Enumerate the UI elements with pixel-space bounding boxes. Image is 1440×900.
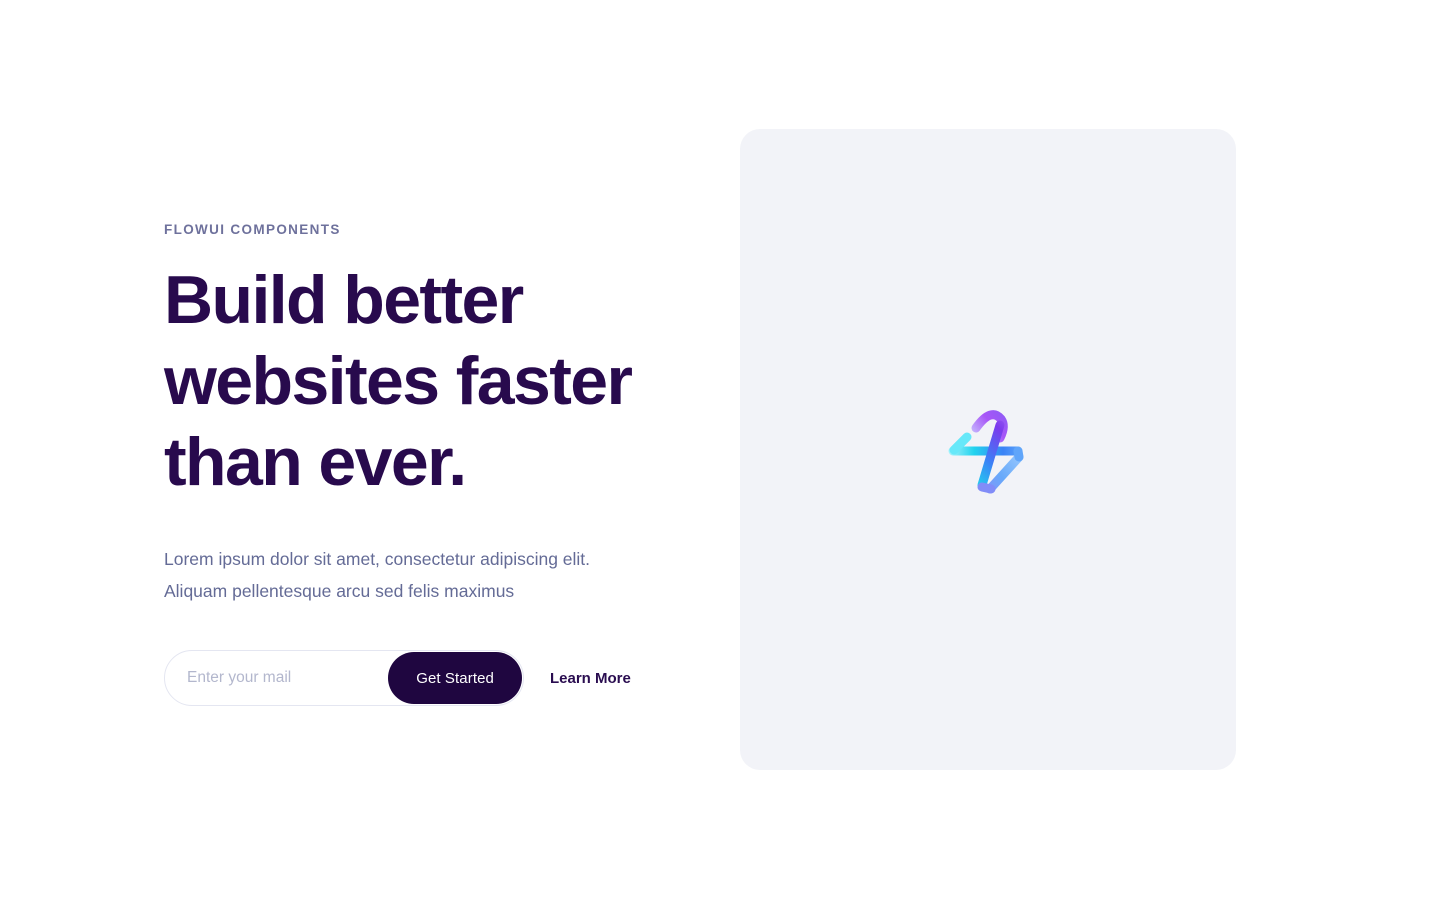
headline-line-1: Build better — [164, 262, 523, 338]
hero-section: FLOWUI COMPONENTS Build better websites … — [0, 0, 1440, 900]
hero-description: Lorem ipsum dolor sit amet, consectetur … — [164, 543, 634, 607]
hero-text-column: FLOWUI COMPONENTS Build better websites … — [164, 222, 684, 706]
email-input-wrapper[interactable]: Get Started — [164, 650, 524, 706]
get-started-button[interactable]: Get Started — [388, 652, 522, 704]
hero-description-line-1: Lorem ipsum dolor sit amet, consectetur … — [164, 549, 590, 569]
hero-visual-card — [740, 129, 1236, 770]
hero-description-line-2: Aliquam pellentesque arcu sed felis maxi… — [164, 581, 514, 601]
headline-line-3: than ever. — [164, 424, 466, 500]
flowui-bolt-logo-icon — [933, 395, 1043, 505]
page-title: Build better websites faster than ever. — [164, 260, 664, 503]
headline-line-2: websites faster — [164, 343, 631, 419]
learn-more-link[interactable]: Learn More — [550, 670, 631, 687]
email-field[interactable] — [165, 652, 402, 704]
hero-eyebrow: FLOWUI COMPONENTS — [164, 222, 684, 238]
signup-form: Get Started Learn More — [164, 650, 684, 706]
